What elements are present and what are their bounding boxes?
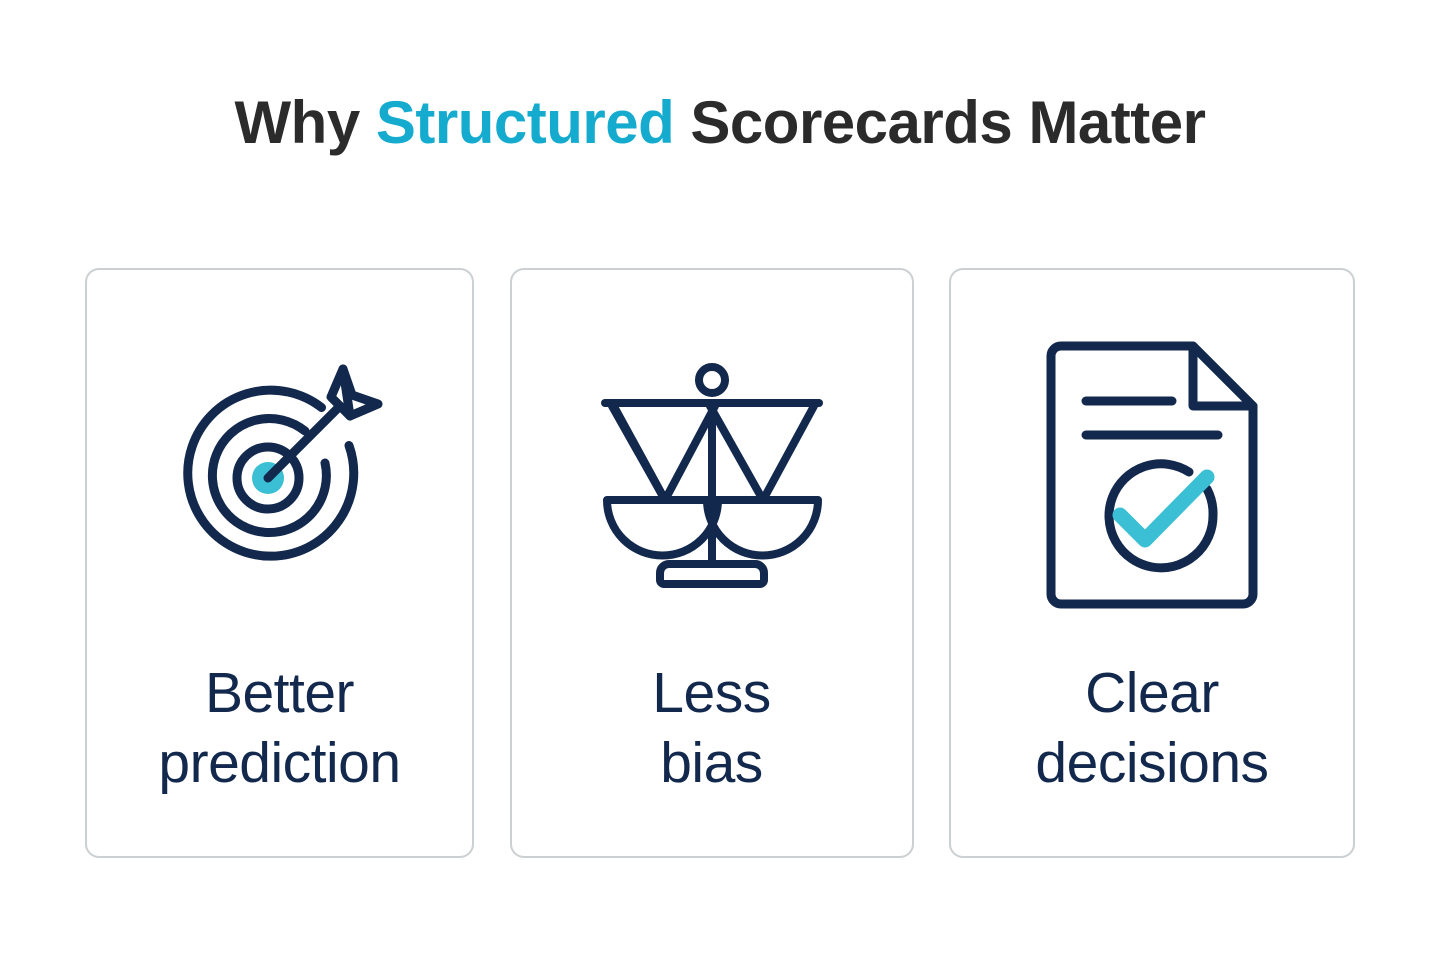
check-mark-icon: [1120, 477, 1207, 540]
benefit-card-label: Better prediction: [87, 658, 472, 798]
page-title-accent-word: Structured: [376, 89, 674, 156]
benefit-card-less-bias[interactable]: Less bias: [510, 268, 914, 858]
icon-slot: [587, 328, 837, 628]
page-title: Why Structured Scorecards Matter: [0, 88, 1440, 158]
infographic-page: Why Structured Scorecards Matter: [0, 0, 1440, 960]
page-title-part-2: Scorecards Matter: [674, 89, 1205, 156]
icon-slot: [165, 328, 395, 628]
benefit-card-label: Less bias: [512, 658, 912, 798]
benefit-card-clear-decisions[interactable]: Clear decisions: [949, 268, 1355, 858]
benefit-cards-row: Better prediction: [85, 268, 1355, 858]
benefit-card-label-line2: decisions: [951, 728, 1353, 798]
benefit-card-label-line1: Better: [205, 661, 354, 725]
benefit-card-label-line2: prediction: [87, 728, 472, 798]
benefit-card-better-prediction[interactable]: Better prediction: [85, 268, 474, 858]
page-title-container: Why Structured Scorecards Matter: [0, 88, 1440, 158]
benefit-card-label-line1: Less: [652, 661, 770, 725]
icon-slot: [1037, 328, 1267, 628]
benefit-card-label-line2: bias: [512, 728, 912, 798]
document-check-icon: [1037, 338, 1267, 618]
balance-scales-icon: [587, 358, 837, 598]
benefit-card-label: Clear decisions: [951, 658, 1353, 798]
benefit-card-label-line1: Clear: [1085, 661, 1219, 725]
target-arrow-icon: [165, 363, 395, 593]
page-title-part-1: Why: [235, 89, 376, 156]
